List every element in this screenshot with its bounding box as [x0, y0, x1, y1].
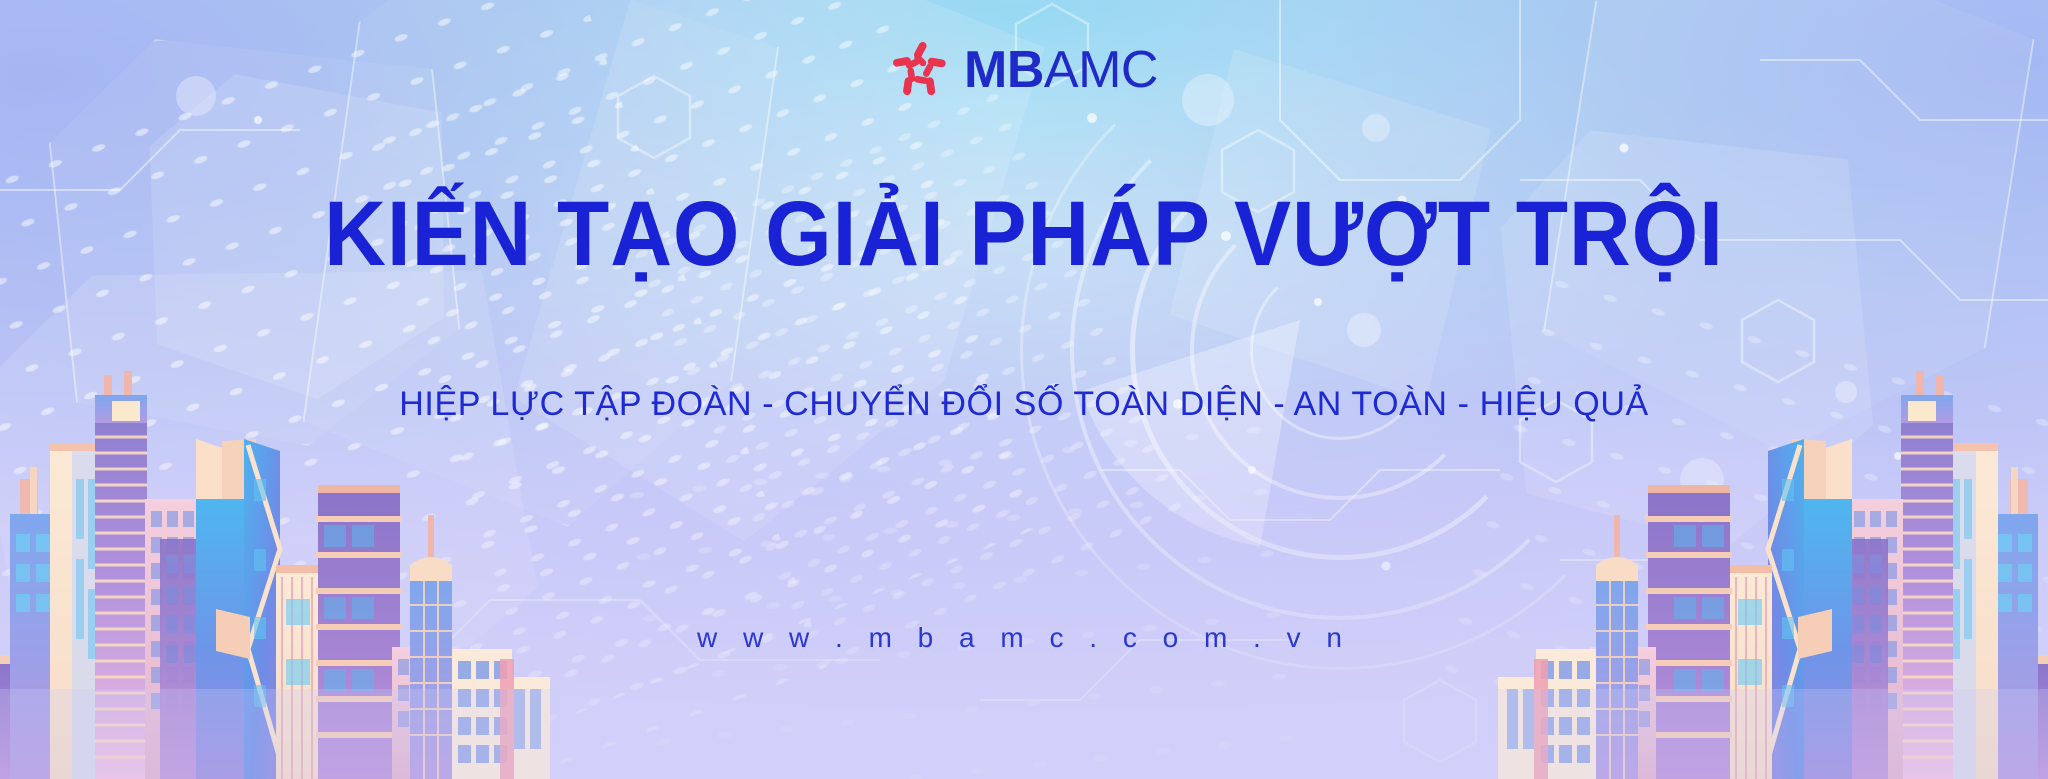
mbamc-pinwheel-star-icon: [890, 40, 950, 100]
mbamc-logo[interactable]: MBAMC: [890, 40, 1158, 100]
banner-content: MBAMC KIẾN TẠO GIẢI PHÁP VƯỢT TRỘI HIỆP …: [0, 0, 2048, 779]
logo-wordmark: MBAMC: [964, 44, 1158, 96]
logo-mb-text: MB: [964, 44, 1044, 96]
page-headline: KIẾN TẠO GIẢI PHÁP VƯỢT TRỘI: [72, 188, 1977, 282]
website-url[interactable]: w w w . m b a m c . c o m . v n: [0, 622, 2048, 654]
mbamc-banner: MBAMC KIẾN TẠO GIẢI PHÁP VƯỢT TRỘI HIỆP …: [0, 0, 2048, 779]
page-subheadline: HIỆP LỰC TẬP ĐOÀN - CHUYỂN ĐỔI SỐ TOÀN D…: [0, 385, 2048, 424]
logo-amc-text: AMC: [1044, 44, 1158, 96]
